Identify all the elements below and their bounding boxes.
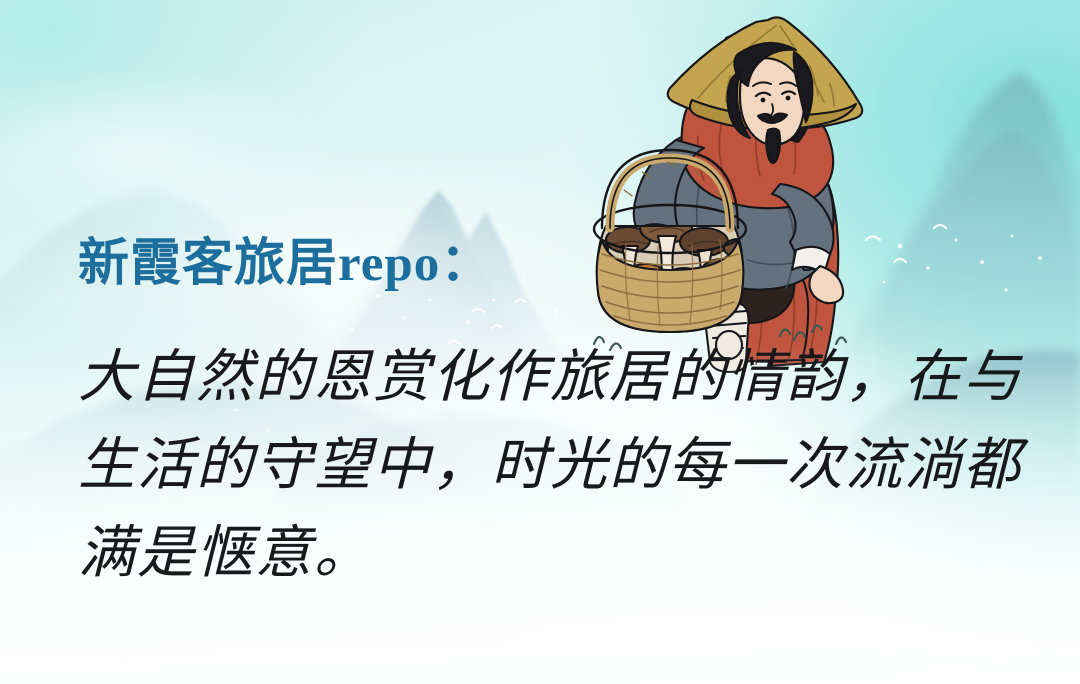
poster-canvas: 新霞客旅居repo： 大自然的恩赏化作旅居的情韵，在与 生活的守望中，时光的每一…: [0, 0, 1080, 684]
page-title: 新霞客旅居repo：: [78, 238, 1018, 292]
body-paragraph: 大自然的恩赏化作旅居的情韵，在与 生活的守望中，时光的每一次流淌都 满是惬意。: [78, 334, 1018, 598]
body-line: 生活的守望中，时光的每一次流淌都: [78, 422, 1018, 510]
text-content-block: 新霞客旅居repo： 大自然的恩赏化作旅居的情韵，在与 生活的守望中，时光的每一…: [78, 238, 1018, 598]
body-line: 满是惬意。: [78, 510, 1018, 598]
body-line: 大自然的恩赏化作旅居的情韵，在与: [78, 334, 1018, 422]
